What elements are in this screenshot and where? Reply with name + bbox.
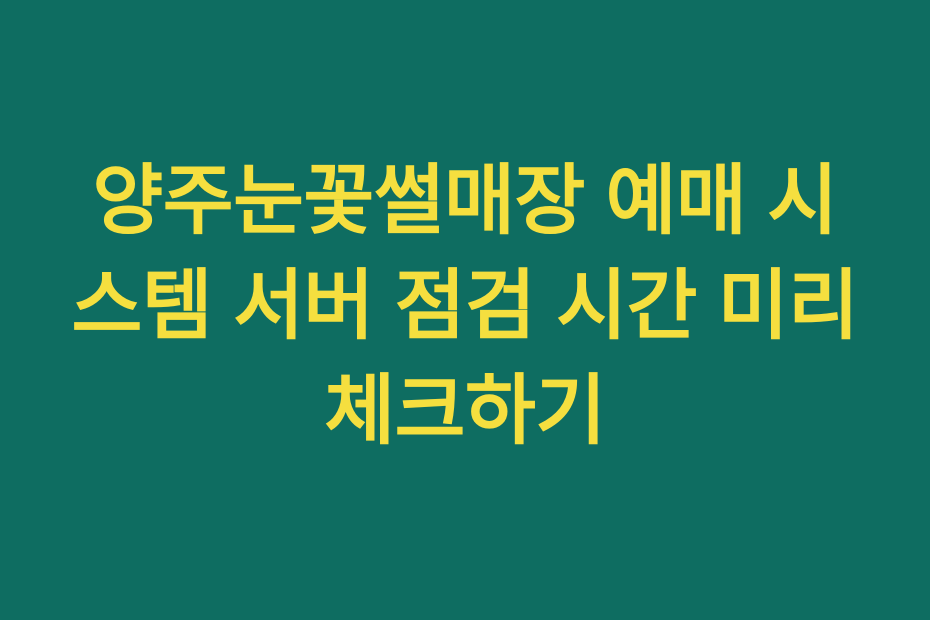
banner-title-line-1: 양주눈꽃썰매장 예매 시 <box>65 149 865 254</box>
banner-canvas: 양주눈꽃썰매장 예매 시 스템 서버 점검 시간 미리 체크하기 <box>0 0 930 620</box>
banner-title-line-3: 체크하기 <box>65 359 865 464</box>
banner-title-line-2: 스템 서버 점검 시간 미리 <box>65 254 865 359</box>
banner-title: 양주눈꽃썰매장 예매 시 스템 서버 점검 시간 미리 체크하기 <box>65 149 865 464</box>
